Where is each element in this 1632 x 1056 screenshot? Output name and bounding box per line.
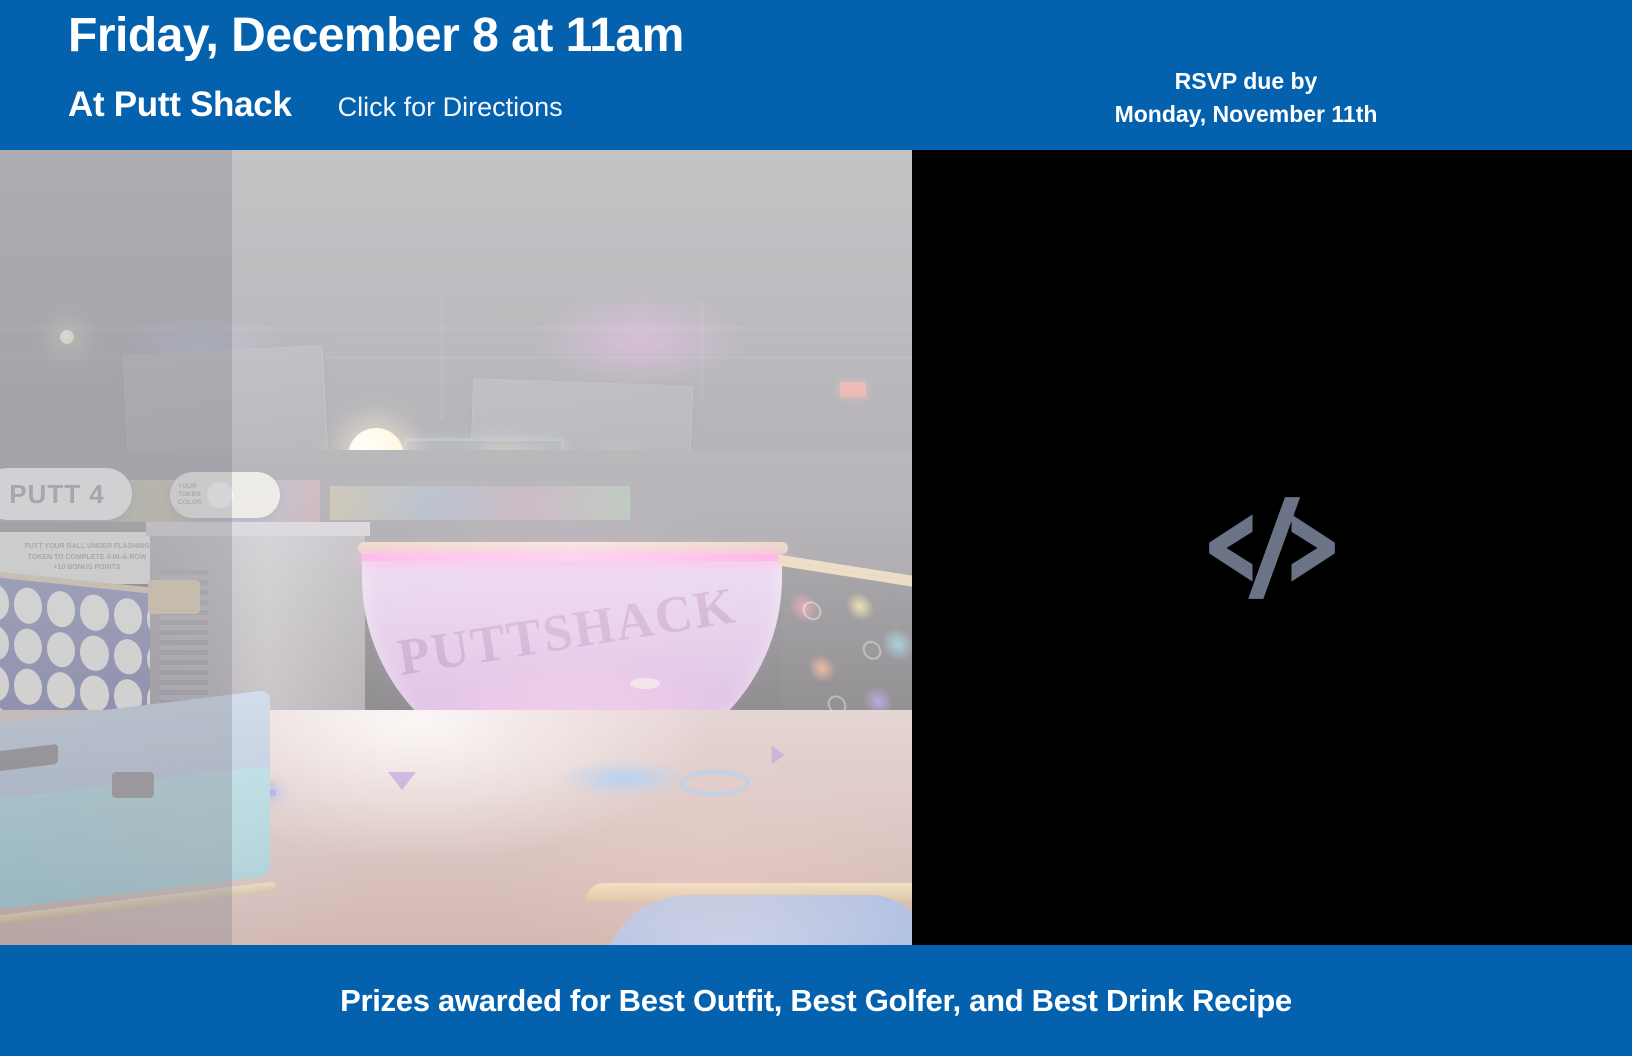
embedded-content-panel	[912, 150, 1632, 945]
token-sign-text: YOUR TOKEN COLOR	[178, 483, 201, 506]
event-invitation-poster: Friday, December 8 at 11am At Putt Shack…	[0, 0, 1632, 1056]
ceiling-beam	[0, 326, 912, 331]
direction-arrow-icon	[772, 745, 785, 765]
venue-photo: PUTT 4 YOUR TOKEN COLOR PUTT YOUR BALL U…	[0, 150, 912, 945]
globe-light	[60, 330, 74, 344]
hole-number-sign: PUTT 4	[0, 468, 132, 520]
header-venue-row: At Putt Shack Click for Directions	[68, 85, 684, 125]
venue-name: At Putt Shack	[68, 85, 292, 125]
floor-ring-marking	[680, 770, 750, 796]
code-brackets-icon	[1207, 488, 1337, 608]
footer-prizes-text: Prizes awarded for Best Outfit, Best Gol…	[340, 983, 1292, 1019]
header-left-group: Friday, December 8 at 11am At Putt Shack…	[68, 8, 684, 125]
footer-banner: Prizes awarded for Best Outfit, Best Gol…	[0, 945, 1632, 1056]
floor-light-pool	[560, 760, 690, 798]
token-dot-icon	[207, 482, 233, 508]
pillar-cap	[146, 522, 370, 536]
ramp-golf-ball	[630, 678, 660, 689]
venue-photo-scene: PUTT 4 YOUR TOKEN COLOR PUTT YOUR BALL U…	[0, 150, 912, 945]
ceiling-beam	[700, 300, 704, 400]
rsvp-deadline-block: RSVP due by Monday, November 11th	[1085, 65, 1407, 130]
tee-marker	[112, 772, 154, 798]
direction-arrow-icon	[388, 772, 416, 790]
rules-line-3: +10 BONUS POINTS	[53, 563, 120, 574]
rsvp-label: RSVP due by	[1085, 65, 1407, 98]
rsvp-date: Monday, November 11th	[1085, 98, 1407, 131]
tee-marker	[148, 580, 200, 614]
directions-link[interactable]: Click for Directions	[338, 92, 563, 123]
bottle-shelf	[330, 486, 630, 520]
event-date-heading: Friday, December 8 at 11am	[68, 8, 684, 63]
ramp-lip	[358, 542, 788, 554]
exit-sign	[840, 382, 866, 397]
rules-line-1: PUTT YOUR BALL UNDER FLASHING	[24, 542, 149, 553]
token-color-sign: YOUR TOKEN COLOR	[170, 472, 280, 518]
ceiling-beam	[440, 300, 444, 420]
rules-line-2: TOKEN TO COMPLETE 4-IN-A-ROW	[28, 553, 147, 564]
header-banner: Friday, December 8 at 11am At Putt Shack…	[0, 0, 1632, 150]
ramp-neon-strip	[362, 554, 782, 561]
